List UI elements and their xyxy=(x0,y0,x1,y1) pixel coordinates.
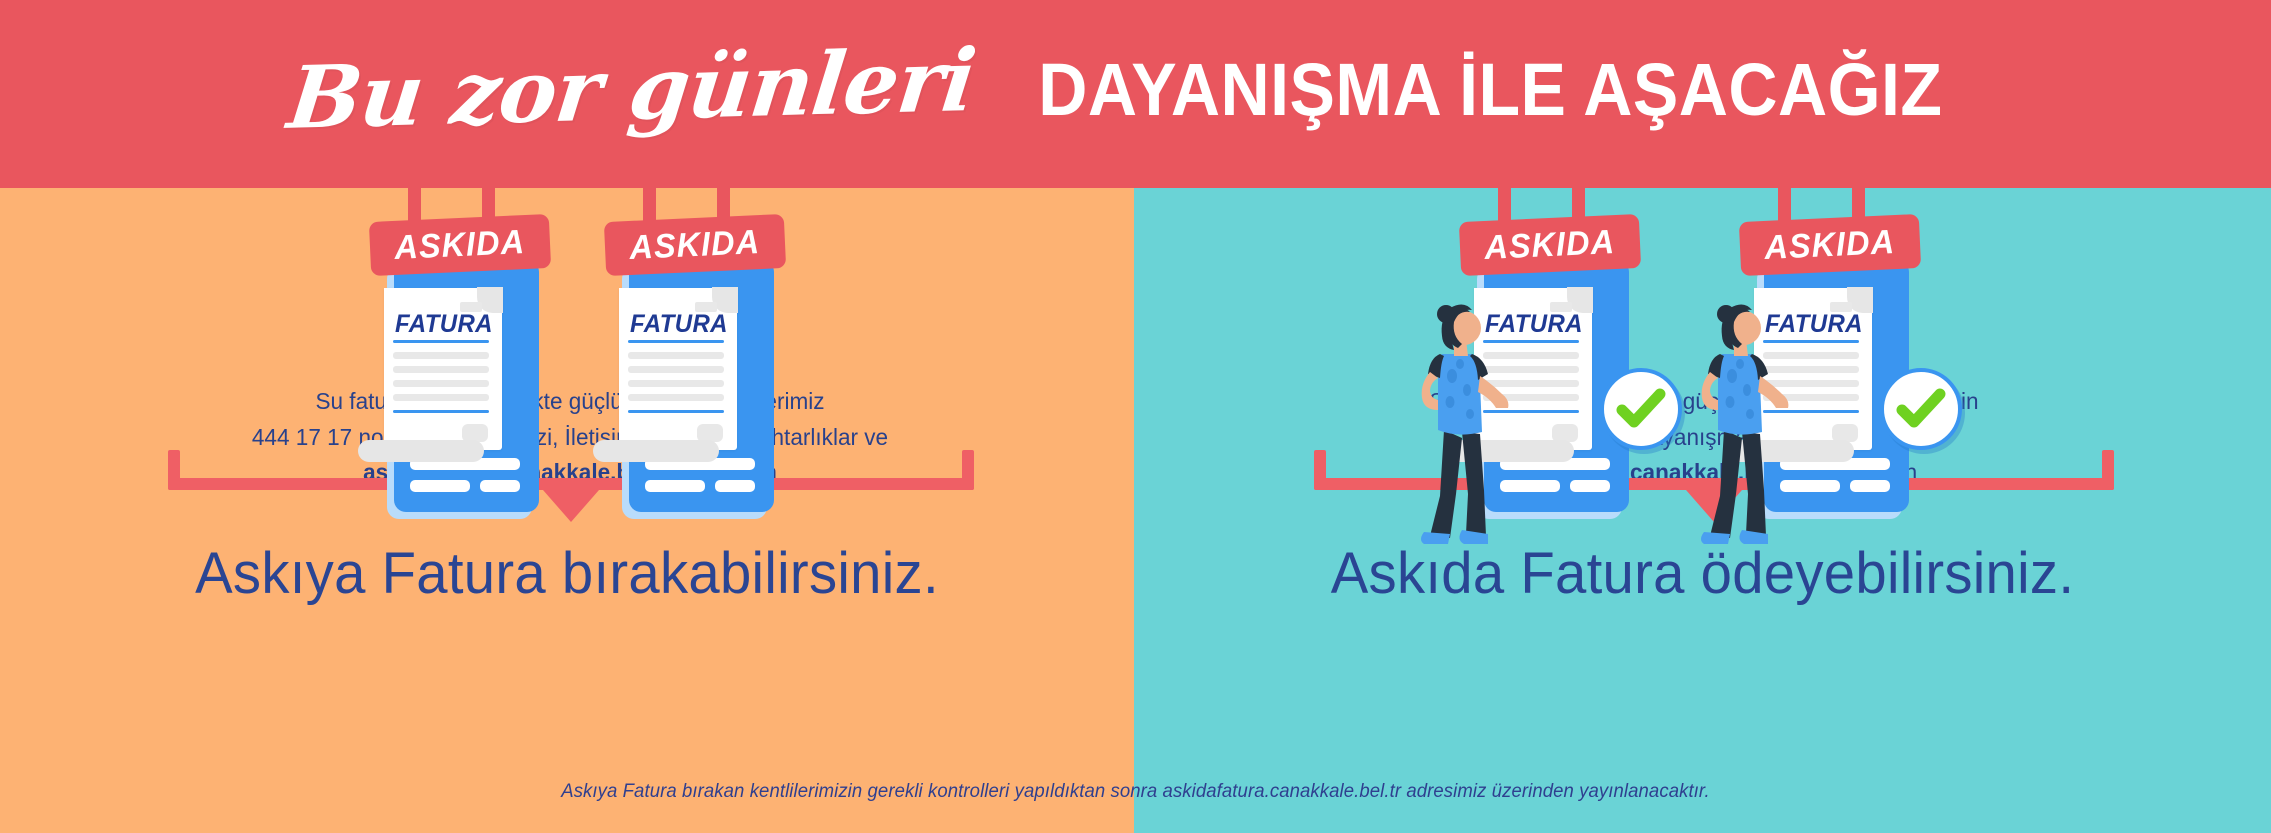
header-bold-title: DAYANIŞMA İLE AŞACAĞIZ xyxy=(1038,53,1942,127)
tag-cord-left xyxy=(1778,188,1791,224)
tag-cord-left xyxy=(1498,188,1511,224)
invoice-line-2 xyxy=(628,366,724,373)
right-panel: ASKIDA FATURA xyxy=(1134,188,2271,833)
invoice-sheet: FATURA xyxy=(619,288,737,450)
paid-check-badge xyxy=(1600,368,1682,450)
check-mark-icon xyxy=(1615,383,1667,435)
invoice-sheet: FATURA xyxy=(384,288,502,450)
left-headline: Askıya Fatura bırakabilirsiniz. xyxy=(17,540,1117,607)
standing-person xyxy=(1410,298,1520,548)
invoice-line-4 xyxy=(628,394,724,401)
invoice-line-1 xyxy=(628,352,724,359)
infographic-canvas: Bu zor günleri DAYANIŞMA İLE AŞACAĞIZ AS… xyxy=(0,0,2271,833)
header-banner: Bu zor günleri DAYANIŞMA İLE AŞACAĞIZ xyxy=(0,0,2271,188)
invoice-roll-edge xyxy=(358,440,484,462)
askida-tag: ASKIDA xyxy=(1739,214,1921,276)
tag-cord-left xyxy=(643,188,656,224)
bracket-arrow-icon xyxy=(543,490,599,522)
header-script-title: Bu zor günleri xyxy=(283,38,978,142)
invoice-rule-top xyxy=(628,340,724,343)
invoice-line-3 xyxy=(393,380,489,387)
right-headline: Askıda Fatura ödeyebilirsiniz. xyxy=(1151,540,2254,607)
card-bar-short-2 xyxy=(1850,480,1890,492)
invoice-rule-top xyxy=(393,340,489,343)
invoice-rule-bottom xyxy=(393,410,489,413)
invoice-roll-edge xyxy=(593,440,719,462)
right-bill-2: ASKIDA FATURA xyxy=(1740,188,2000,558)
standing-person-icon xyxy=(1690,298,1800,548)
left-panel: ASKIDA FATURA xyxy=(0,188,1134,833)
standing-person-icon xyxy=(1410,298,1520,548)
invoice-title: FATURA xyxy=(630,312,728,337)
invoice-line-2 xyxy=(393,366,489,373)
card-bar-short-2 xyxy=(1570,480,1610,492)
header-title-group: Bu zor günleri DAYANIŞMA İLE AŞACAĞIZ xyxy=(0,0,2271,188)
paid-check-badge xyxy=(1880,368,1962,450)
invoice-title: FATURA xyxy=(395,312,493,337)
card-bar-short-2 xyxy=(715,480,755,492)
askida-tag-label: ASKIDA xyxy=(629,225,761,265)
standing-person xyxy=(1690,298,1800,548)
askida-tag: ASKIDA xyxy=(1459,214,1641,276)
card-bar-short-1 xyxy=(645,480,705,492)
invoice-line-3 xyxy=(628,380,724,387)
bracket-bar xyxy=(168,478,974,490)
askida-tag: ASKIDA xyxy=(604,214,786,276)
footer-note: Askıya Fatura bırakan kentlilerimizin ge… xyxy=(57,780,2214,803)
left-bracket xyxy=(168,438,974,490)
tag-cord-left xyxy=(408,188,421,224)
invoice-line-1 xyxy=(393,352,489,359)
right-bill-1: ASKIDA FATURA xyxy=(1460,188,1720,558)
askida-tag-label: ASKIDA xyxy=(1484,225,1616,265)
askida-tag-label: ASKIDA xyxy=(394,225,526,265)
check-mark-icon xyxy=(1895,383,1947,435)
invoice-line-4 xyxy=(393,394,489,401)
card-bar-short-2 xyxy=(480,480,520,492)
left-copy-line-1: Su faturalarını ödemekte güçlük çeken ke… xyxy=(157,384,983,420)
card-bar-short-1 xyxy=(410,480,470,492)
askida-tag-label: ASKIDA xyxy=(1764,225,1896,265)
askida-tag: ASKIDA xyxy=(369,214,551,276)
invoice-rule-bottom xyxy=(628,410,724,413)
